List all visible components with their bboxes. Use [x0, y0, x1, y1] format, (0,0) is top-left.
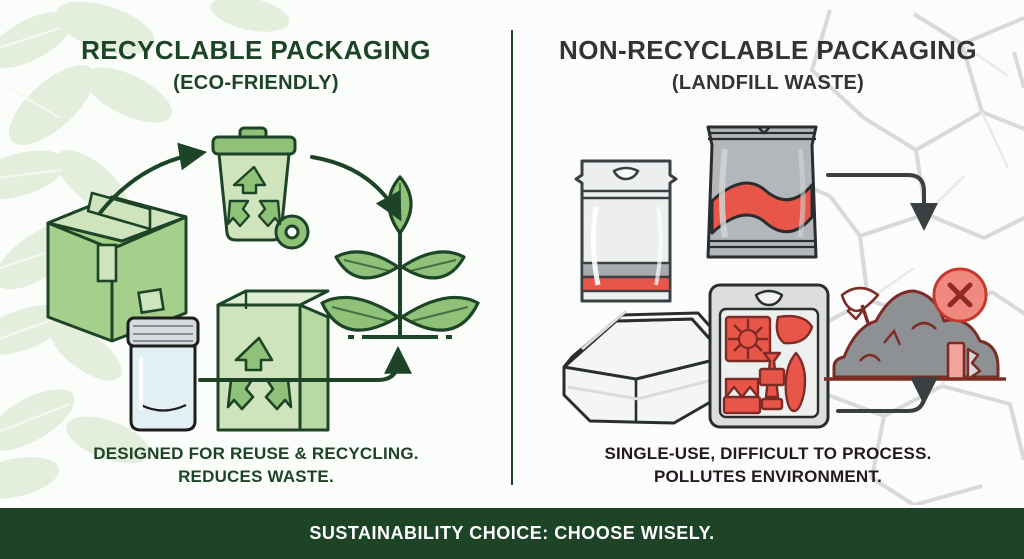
left-title-sub: (ECO-FRIENDLY) — [0, 72, 512, 95]
recycling-bin-illustration — [213, 128, 308, 248]
arrow-blister-to-landfill — [838, 395, 924, 411]
paper-bag-illustration — [218, 291, 328, 430]
right-title-main: NON-RECYCLABLE PACKAGING — [512, 36, 1024, 66]
non-recyclable-panel: NON-RECYCLABLE PACKAGING (LANDFILL WASTE… — [512, 0, 1024, 505]
left-title-main: RECYCLABLE PACKAGING — [0, 36, 512, 66]
left-caption-line-1: DESIGNED FOR REUSE & RECYCLING. — [0, 443, 512, 466]
banner-text: SUSTAINABILITY CHOICE: CHOOSE WISELY. — [309, 523, 714, 544]
plastic-zip-pouch-illustration — [576, 161, 676, 301]
recyclable-panel: RECYCLABLE PACKAGING (ECO-FRIENDLY) — [0, 0, 512, 505]
no-entry-badge — [934, 269, 986, 321]
left-caption: DESIGNED FOR REUSE & RECYCLING. REDUCES … — [0, 443, 512, 489]
right-caption-line-1: SINGLE-USE, DIFFICULT TO PROCESS. — [512, 443, 1024, 466]
left-caption-line-2: REDUCES WASTE. — [0, 466, 512, 489]
right-title-block: NON-RECYCLABLE PACKAGING (LANDFILL WASTE… — [512, 36, 1024, 95]
right-caption-line-2: POLLUTES ENVIRONMENT. — [512, 466, 1024, 489]
blister-pack-illustration — [710, 285, 828, 427]
growing-plant-illustration — [322, 177, 478, 337]
arrow-bin-to-plant — [312, 157, 398, 215]
snack-chip-bag-illustration — [708, 127, 816, 257]
foam-clamshell-illustration — [564, 311, 732, 423]
panel-divider — [511, 30, 513, 485]
sustainability-banner: SUSTAINABILITY CHOICE: CHOOSE WISELY. — [0, 508, 1024, 559]
glass-jar-illustration — [128, 318, 198, 430]
right-illustration-stage — [512, 105, 1024, 435]
left-illustration-stage — [0, 105, 512, 435]
arrow-bag-to-landfill — [828, 175, 924, 223]
right-title-sub: (LANDFILL WASTE) — [512, 72, 1024, 95]
right-caption: SINGLE-USE, DIFFICULT TO PROCESS. POLLUT… — [512, 443, 1024, 489]
left-title-block: RECYCLABLE PACKAGING (ECO-FRIENDLY) — [0, 36, 512, 95]
landfill-mound-illustration — [824, 269, 1006, 379]
infographic-root: RECYCLABLE PACKAGING (ECO-FRIENDLY) — [0, 0, 1024, 559]
